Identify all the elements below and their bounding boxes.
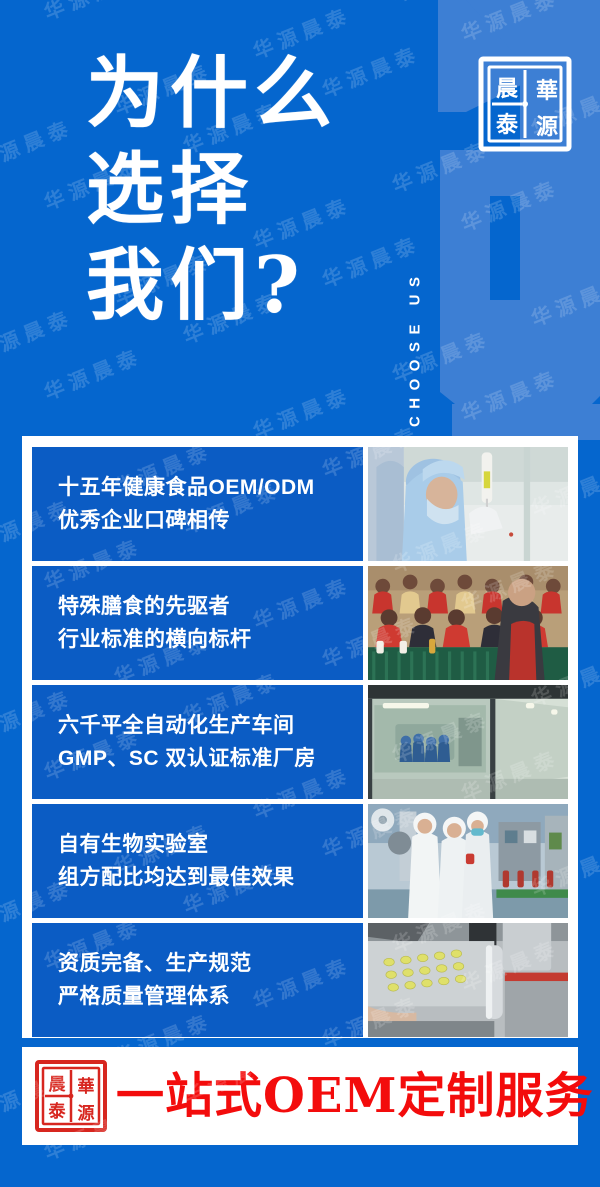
watermark-text: 华源晨泰 [595,495,600,561]
why-choose-us-poster: 为什么 选择 我们? DID YOU CHOOSE US 晨 泰 華 源 [0,0,600,1187]
svg-text:晨: 晨 [49,1075,67,1095]
lab-staff-inspecting-line-photo [368,804,568,918]
company-seal-icon: 晨 泰 華 源 [476,54,574,154]
feature-card[interactable]: 特殊膳食的先驱者 行业标准的横向标杆 [32,566,568,680]
title-line-2: 选择 [86,142,338,238]
lab-technician-pipetting-photo [368,447,568,561]
conference-audience-photo [368,566,568,680]
feature-line: 六千平全自动化生产车间 [58,709,363,742]
watermark-text: 华源晨泰 [0,966,7,1032]
svg-text:源: 源 [536,114,558,140]
feature-line: 严格质量管理体系 [58,980,363,1013]
feature-card[interactable]: 资质完备、生产规范 严格质量管理体系 [32,923,568,1037]
watermark-text: 华源晨泰 [595,685,600,751]
feature-card[interactable]: 十五年健康食品OEM/ODM 优秀企业口碑相传 [32,447,568,561]
cta-banner[interactable]: 晨 泰 華 源 一站式OEM定制服务 [22,1047,578,1145]
feature-line: 优秀企业口碑相传 [58,504,363,537]
watermark-text: 华源晨泰 [595,875,600,941]
watermark-text: 华源晨泰 [0,776,7,842]
cta-banner-text: 一站式OEM定制服务 [116,1067,594,1125]
svg-text:華: 華 [78,1077,95,1097]
clean-room-production-corridor-photo [368,685,568,799]
svg-text:華: 華 [536,78,558,104]
feature-line: 组方配比均达到最佳效果 [58,861,363,894]
feature-line: GMP、SC 双认证标准厂房 [58,742,363,775]
svg-text:晨: 晨 [496,76,519,102]
watermark-text: 华源晨泰 [0,1156,7,1187]
title-line-3: 我们? [86,238,338,334]
feature-card[interactable]: 六千平全自动化生产车间 GMP、SC 双认证标准厂房 [32,685,568,799]
page-title: 为什么 选择 我们? [86,46,338,334]
feature-card[interactable]: 自有生物实验室 组方配比均达到最佳效果 [32,804,568,918]
feature-line: 自有生物实验室 [58,828,363,861]
feature-line: 特殊膳食的先驱者 [58,590,363,623]
feature-card-text: 自有生物实验室 组方配比均达到最佳效果 [32,804,363,918]
feature-line: 行业标准的横向标杆 [58,623,363,656]
feature-card-text: 特殊膳食的先驱者 行业标准的横向标杆 [32,566,363,680]
features-panel: 十五年健康食品OEM/ODM 优秀企业口碑相传 [22,436,578,1038]
feature-line: 资质完备、生产规范 [58,947,363,980]
watermark-text: 华源晨泰 [0,586,7,652]
hero-section: 为什么 选择 我们? DID YOU CHOOSE US 晨 泰 華 源 [0,0,600,436]
svg-text:泰: 泰 [49,1101,67,1122]
feature-card-text: 十五年健康食品OEM/ODM 优秀企业口碑相传 [32,447,363,561]
company-seal-red-icon: 晨 泰 華 源 [34,1059,108,1133]
vertical-subtitle: DID YOU CHOOSE US [398,20,432,420]
tablet-packaging-machine-photo [368,923,568,1037]
title-line-1: 为什么 [86,46,338,142]
svg-text:泰: 泰 [495,112,519,138]
features-list: 十五年健康食品OEM/ODM 优秀企业口碑相传 [32,447,568,1037]
feature-line: 十五年健康食品OEM/ODM [58,471,363,504]
feature-card-text: 六千平全自动化生产车间 GMP、SC 双认证标准厂房 [32,685,363,799]
svg-text:源: 源 [78,1103,95,1124]
feature-card-text: 资质完备、生产规范 严格质量管理体系 [32,923,363,1037]
